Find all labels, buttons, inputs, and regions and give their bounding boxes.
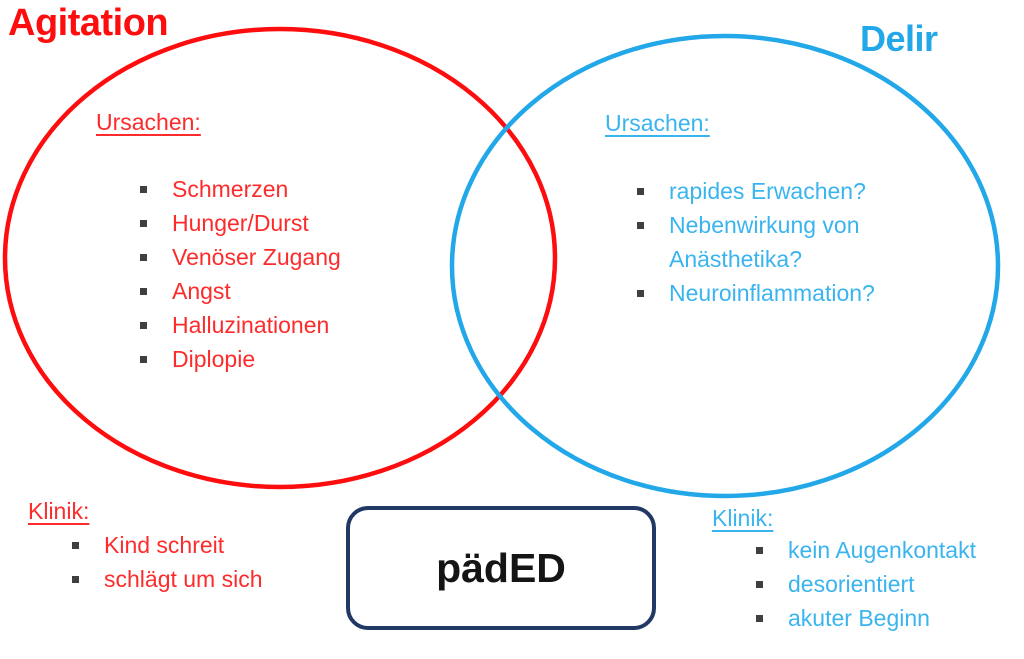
agitation-klinik-list: Kind schreit schlägt um sich xyxy=(68,528,263,596)
agitation-klinik-heading: Klinik: xyxy=(28,498,89,525)
paded-label-box: pädED xyxy=(346,506,656,630)
list-item-label: Anästhetika? xyxy=(669,246,802,272)
list-item-label: Halluzinationen xyxy=(172,312,329,338)
bullet-square-icon xyxy=(756,547,763,554)
list-item: schlägt um sich xyxy=(68,562,263,596)
list-item-label: rapides Erwachen? xyxy=(669,178,866,204)
delir-ursachen-heading: Ursachen: xyxy=(605,110,710,137)
agitation-ursachen-heading: Ursachen: xyxy=(96,109,201,136)
list-item-label: Schmerzen xyxy=(172,176,288,202)
bullet-square-icon xyxy=(140,220,147,227)
list-item-label: Venöser Zugang xyxy=(172,244,341,270)
bullet-square-icon xyxy=(72,542,79,549)
bullet-square-icon xyxy=(756,615,763,622)
bullet-square-icon xyxy=(140,186,147,193)
delir-ursachen-list: rapides Erwachen? Nebenwirkung von Anäst… xyxy=(633,174,875,310)
list-item: desorientiert xyxy=(752,567,976,601)
list-item: akuter Beginn xyxy=(752,601,976,635)
list-item-label: Neuroinflammation? xyxy=(669,280,875,306)
bullet-square-icon xyxy=(637,188,644,195)
bullet-square-icon xyxy=(140,254,147,261)
agitation-ursachen-list: Schmerzen Hunger/Durst Venöser Zugang An… xyxy=(136,172,341,376)
bullet-square-icon xyxy=(140,356,147,363)
list-item-label: Diplopie xyxy=(172,346,255,372)
list-item-label: Angst xyxy=(172,278,231,304)
list-item-label: desorientiert xyxy=(788,571,915,597)
delir-klinik-heading: Klinik: xyxy=(712,505,773,532)
list-item: Neuroinflammation? xyxy=(633,276,875,310)
list-item-label: Kind schreit xyxy=(104,532,224,558)
list-item-label: schlägt um sich xyxy=(104,566,263,592)
list-item: Nebenwirkung von xyxy=(633,208,875,242)
bullet-square-icon xyxy=(637,222,644,229)
list-item: rapides Erwachen? xyxy=(633,174,875,208)
delir-title: Delir xyxy=(860,18,938,60)
agitation-title: Agitation xyxy=(8,2,168,45)
list-item: Diplopie xyxy=(136,342,341,376)
paded-label-text: pädED xyxy=(436,545,566,592)
bullet-square-icon xyxy=(756,581,763,588)
list-item: Kind schreit xyxy=(68,528,263,562)
bullet-square-icon xyxy=(140,322,147,329)
list-item: Halluzinationen xyxy=(136,308,341,342)
list-item: Hunger/Durst xyxy=(136,206,341,240)
delir-klinik-list: kein Augenkontakt desorientiert akuter B… xyxy=(752,533,976,635)
list-item-label: Nebenwirkung von xyxy=(669,212,860,238)
list-item: Schmerzen xyxy=(136,172,341,206)
list-item: kein Augenkontakt xyxy=(752,533,976,567)
list-item-label: kein Augenkontakt xyxy=(788,537,976,563)
list-item-label: Hunger/Durst xyxy=(172,210,309,236)
list-item-continuation: Anästhetika? xyxy=(633,242,875,276)
bullet-square-icon xyxy=(637,290,644,297)
list-item: Venöser Zugang xyxy=(136,240,341,274)
list-item-label: akuter Beginn xyxy=(788,605,930,631)
venn-diagram-canvas: Agitation Delir Ursachen: Schmerzen Hung… xyxy=(0,0,1024,659)
list-item: Angst xyxy=(136,274,341,308)
bullet-square-icon xyxy=(140,288,147,295)
bullet-square-icon xyxy=(72,576,79,583)
